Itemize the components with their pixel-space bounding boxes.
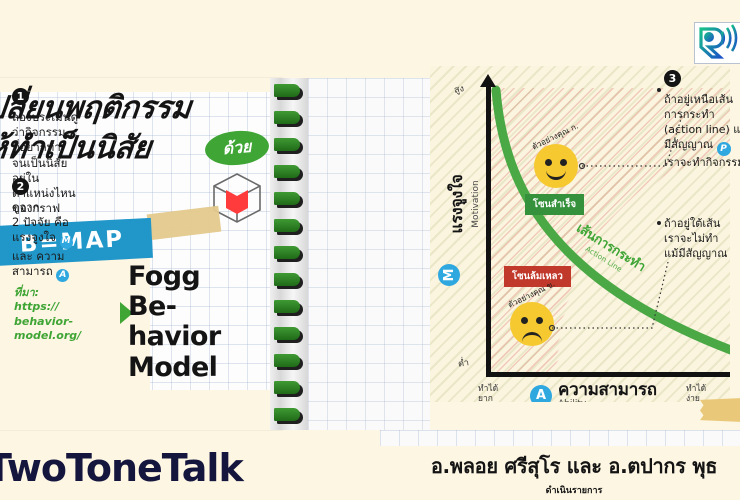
x-axis-title: A ความสามารถ Ability [530,382,657,402]
y-axis-line [486,84,491,376]
spiral-ring [274,408,304,425]
duay-pill-label: ด้วย [222,134,253,161]
spiral-binding [270,78,312,430]
spiral-ring [274,246,304,263]
badge-ability: A [56,269,69,282]
bullet-point [657,221,661,225]
spiral-ring [274,381,304,398]
hosts-role: ดำเนินรายการ [404,483,740,497]
y-axis-title: แรงจูงใจ Motivation [445,159,481,249]
x-axis-line [486,372,730,377]
slide-canvas: เปลี่ยนพฤติกรรม ให้ทำเป็นนิสัย ด้วย B=MA… [0,0,740,500]
step-2-text: ดูจาก 2 ปัจจัย คือ แรงจูงใจ M และ ความ ส… [12,200,120,282]
model-name: Fogg Be- havior Model [128,262,278,383]
y-tick-low: ต่ำ [457,355,470,370]
spiral-ring [274,300,304,317]
panel-base [430,402,730,414]
step-1-number: 1 [12,88,29,105]
spiral-ring [274,111,304,128]
step-3-number: 3 [664,70,681,87]
spiral-ring [274,327,304,344]
source-note[interactable]: ที่มา: https:// behavior- model.org/ [14,286,120,343]
spiral-ring [274,84,304,101]
success-zone-tag: โซนสำเร็จ [525,194,584,215]
spiral-ring [274,192,304,209]
source-url-line-3: model.org/ [14,329,120,343]
sad-face-icon [510,302,554,346]
happy-face-icon [534,144,578,188]
spiral-ring [274,138,304,155]
footer-grid-strip [380,430,740,446]
badge-ability-axis: A [530,385,552,403]
spiral-ring [274,219,304,236]
spiral-ring [274,354,304,371]
paper-cutout [0,390,282,430]
model-line-3: havior [128,322,278,352]
badge-motivation-axis: M [438,264,460,286]
source-url-line-2: behavior- [14,315,120,329]
model-line-2: Be- [128,292,278,322]
step-2: 2 ดูจาก 2 ปัจจัย คือ แรงจูงใจ M และ ความ… [12,178,120,282]
step-3-note-1: ถ้าอยู่เหนือเส้น การกระทำ (action line) … [664,93,740,171]
y-axis-title-en: Motivation [471,159,481,249]
bullet-point [657,88,661,92]
x-tick-left: ทำได้ ยาก [478,384,498,402]
spiral-ring [274,273,304,290]
source-label: ที่มา: [14,286,120,300]
x-tick-right: ทำได้ ง่าย [686,384,706,402]
steps-notebook-page [308,78,430,430]
y-axis-title-th: แรงจูงใจ [445,159,470,249]
hosts-block: อ.พลอย ศรีสุโร และ อ.ตปากร พุธ ดำเนินราย… [404,450,740,497]
step-3-note-2: ถ้าอยู่ใต้เส้น เราจะไม่ทำ แม้มีสัญญาณ [664,217,740,262]
radio-broadcast-icon [694,22,740,64]
badge-motivation: M [60,236,73,249]
model-line-1: Fogg [128,262,278,292]
x-axis-title-th: ความสามารถ [558,382,657,399]
show-title: TwoToneTalk [0,446,243,490]
model-line-4: Model [128,353,278,383]
step-2-number: 2 [12,178,29,195]
hosts-names: อ.พลอย ศรีสุโร และ อ.ตปากร พุธ [404,450,740,482]
spiral-ring [274,165,304,182]
badge-prompt: P [717,142,731,156]
tape-decoration [700,398,740,422]
step-3: 3 ถ้าอยู่เหนือเส้น การกระทำ (action line… [664,70,740,171]
source-url-line-1: https:// [14,300,120,314]
